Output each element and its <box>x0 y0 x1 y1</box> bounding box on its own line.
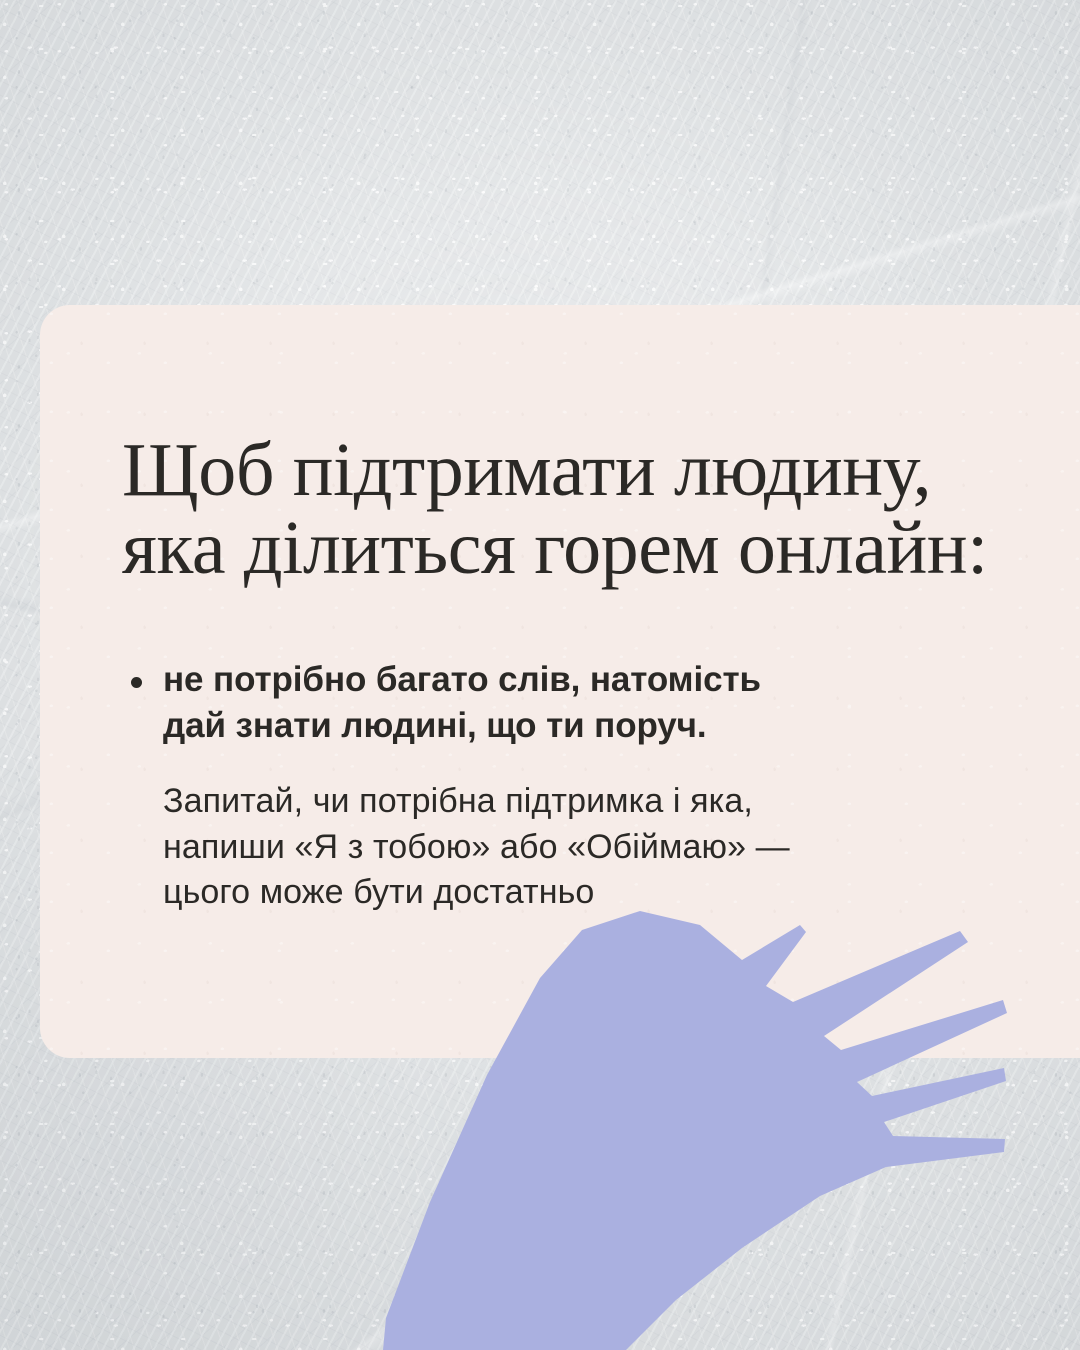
page-title: Щоб підтримати людину, яка ділиться горе… <box>122 432 1012 587</box>
advice-list: не потрібно багато слів, натомість дай з… <box>122 657 1012 916</box>
poster-canvas: Щоб підтримати людину, яка ділиться горе… <box>0 0 1080 1350</box>
list-item-body: Запитай, чи потрібна підтримка і яка, на… <box>163 779 1012 916</box>
list-item-lead: не потрібно багато слів, натомість дай з… <box>163 657 1012 748</box>
list-item: не потрібно багато слів, натомість дай з… <box>122 657 1012 916</box>
bullet-dot-icon <box>131 677 142 688</box>
card-text-block: Щоб підтримати людину, яка ділиться горе… <box>122 432 1012 916</box>
